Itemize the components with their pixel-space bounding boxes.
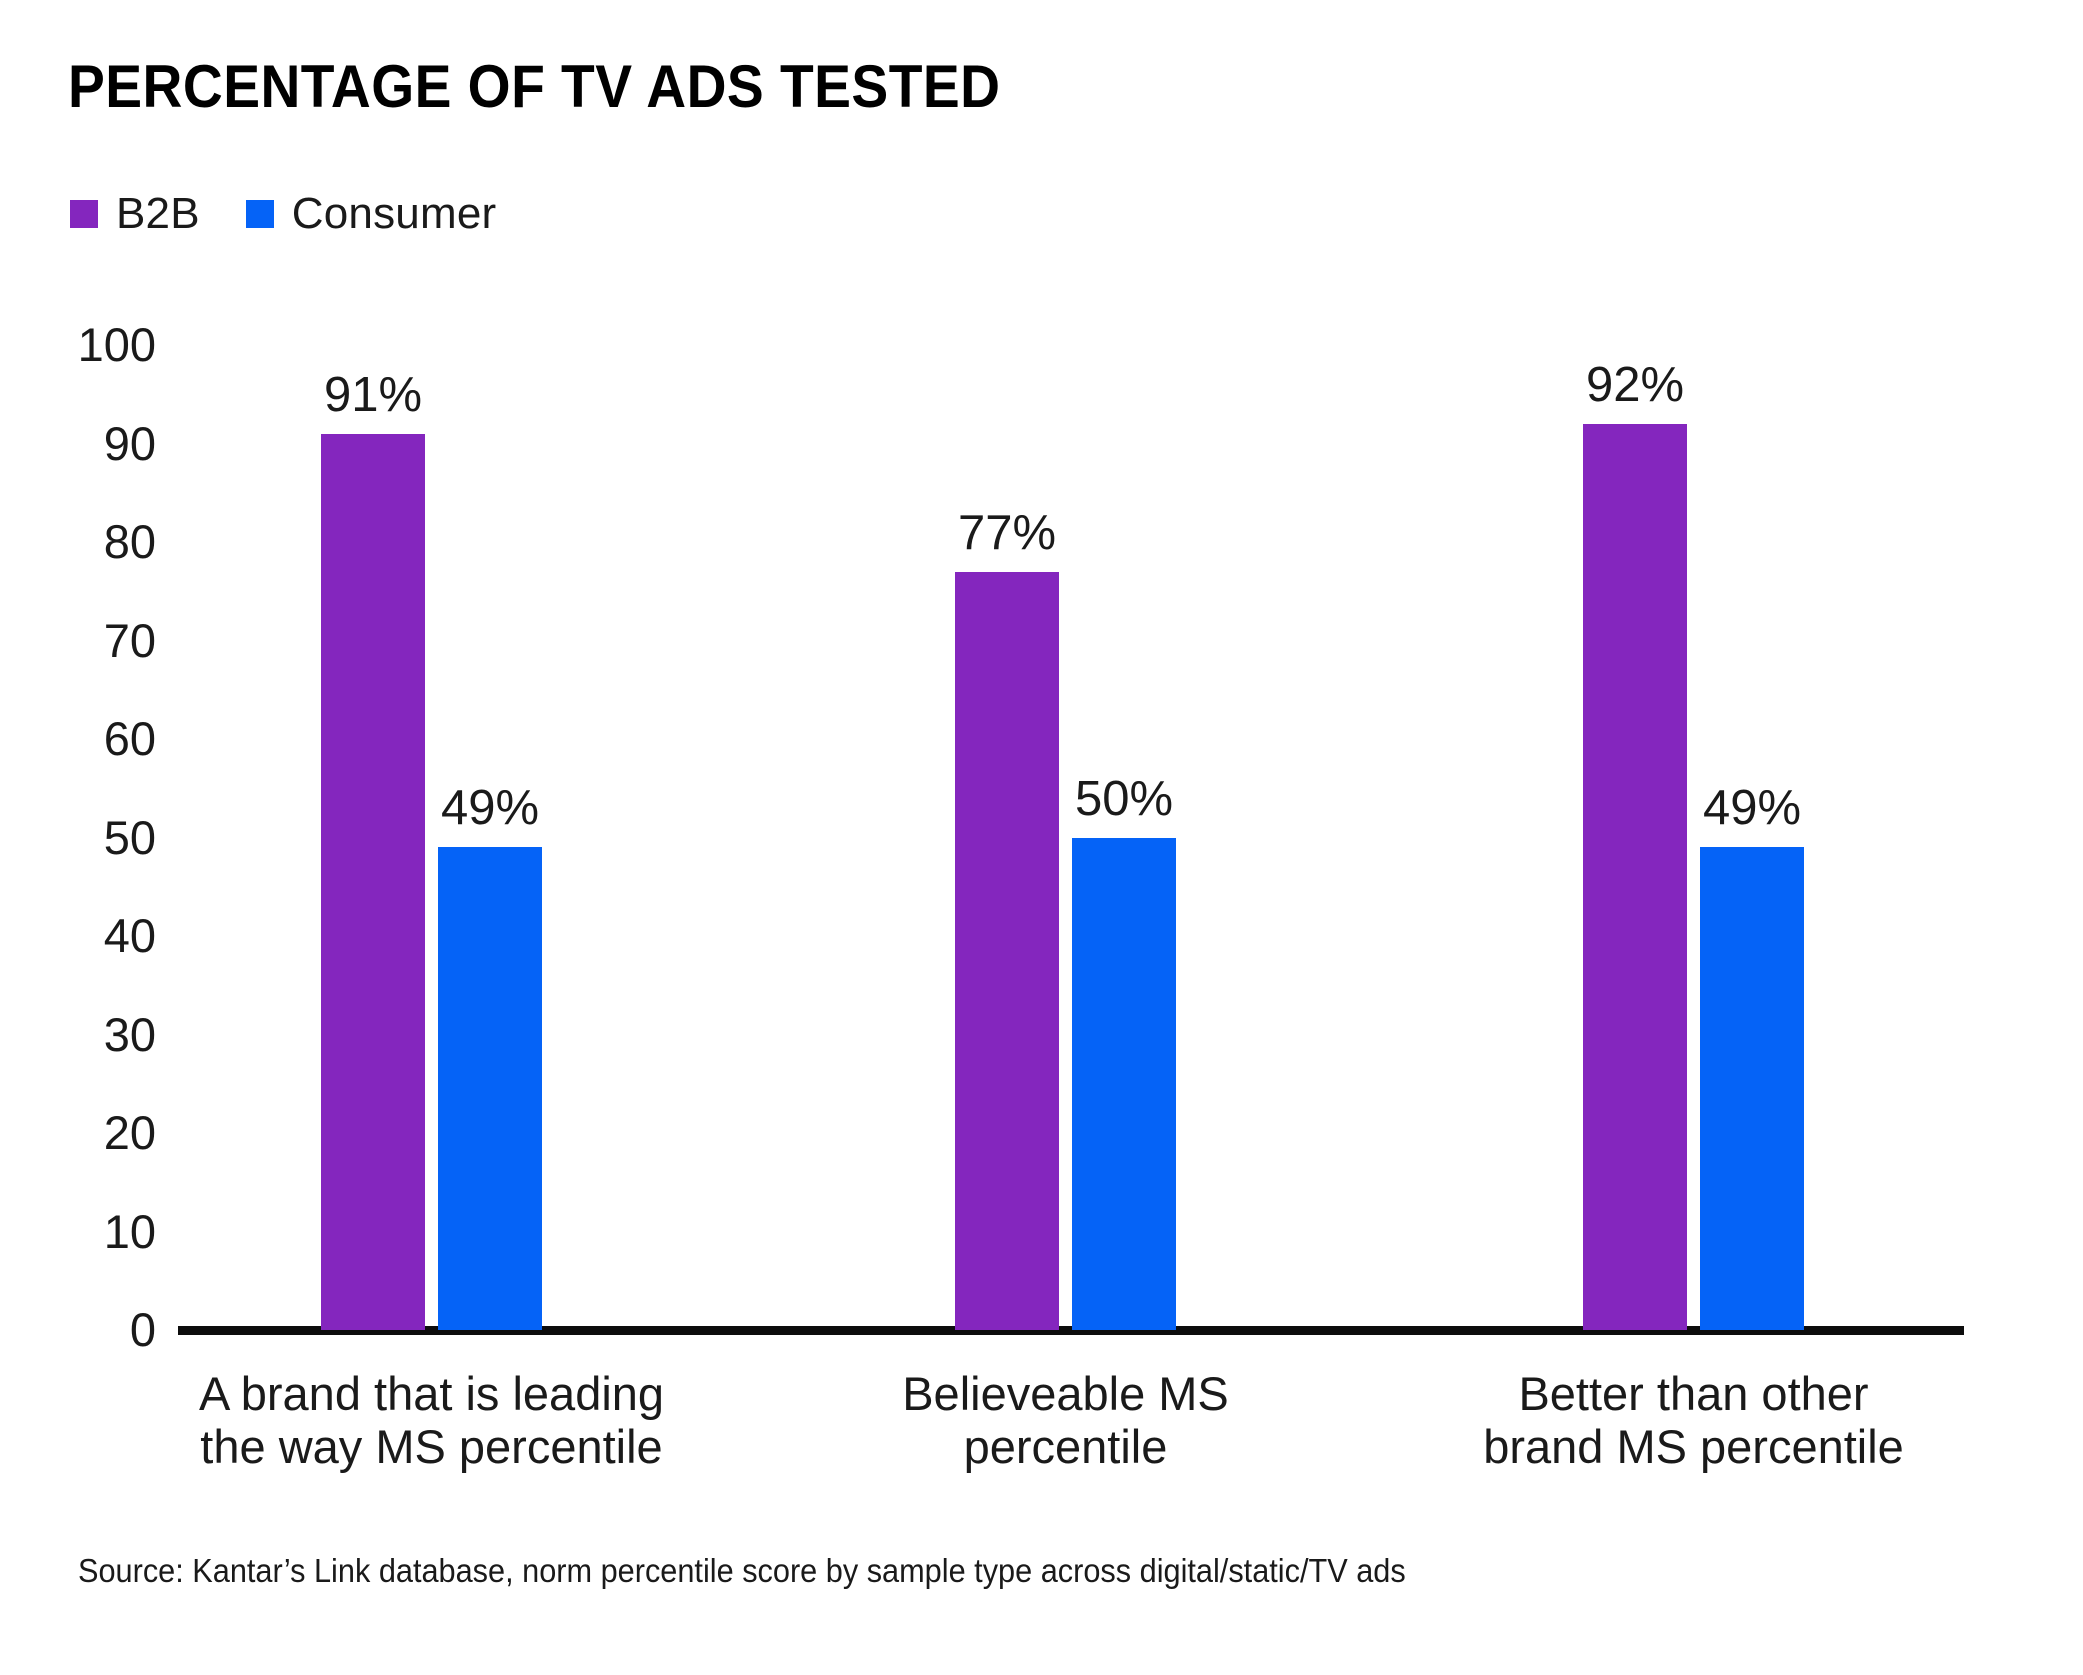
y-axis-tick-label: 60 (38, 715, 156, 762)
bar-value-label: 91% (324, 371, 422, 420)
bar-value-label: 77% (958, 509, 1056, 558)
bar-consumer-2[interactable]: 49% (1700, 847, 1804, 1330)
bar-value-label: 49% (1703, 784, 1801, 833)
bar-b2b-0[interactable]: 91% (321, 434, 425, 1330)
x-axis-category-label: A brand that is leading the way MS perce… (152, 1368, 712, 1473)
x-axis-category-label: Better than other brand MS percentile (1434, 1368, 1954, 1473)
plot-area: 1009080706050403020100 91%49%77%50%92%49… (0, 0, 2083, 1675)
y-axis-tick-label: 40 (38, 912, 156, 959)
bar-consumer-1[interactable]: 50% (1072, 838, 1176, 1331)
bar-b2b-2[interactable]: 92% (1583, 424, 1687, 1330)
bar-b2b-1[interactable]: 77% (955, 572, 1059, 1330)
y-axis-tick-label: 10 (38, 1208, 156, 1255)
bar-value-label: 49% (441, 784, 539, 833)
y-axis-tick-label: 50 (38, 814, 156, 861)
y-axis-tick-label: 100 (38, 321, 156, 368)
chart-canvas: PERCENTAGE OF TV ADS TESTED B2B Consumer… (0, 0, 2083, 1675)
bar-consumer-0[interactable]: 49% (438, 847, 542, 1330)
y-axis-tick-label: 90 (38, 420, 156, 467)
bar-value-label: 92% (1586, 361, 1684, 410)
source-note: Source: Kantar’s Link database, norm per… (78, 1552, 1406, 1590)
y-axis-tick-label: 0 (38, 1306, 156, 1353)
y-axis-tick-label: 20 (38, 1109, 156, 1156)
y-axis-tick-label: 70 (38, 617, 156, 664)
x-axis-category-label: Believeable MS percentile (851, 1368, 1281, 1473)
bar-value-label: 50% (1075, 775, 1173, 824)
y-axis-tick-label: 30 (38, 1011, 156, 1058)
y-axis-tick-label: 80 (38, 518, 156, 565)
